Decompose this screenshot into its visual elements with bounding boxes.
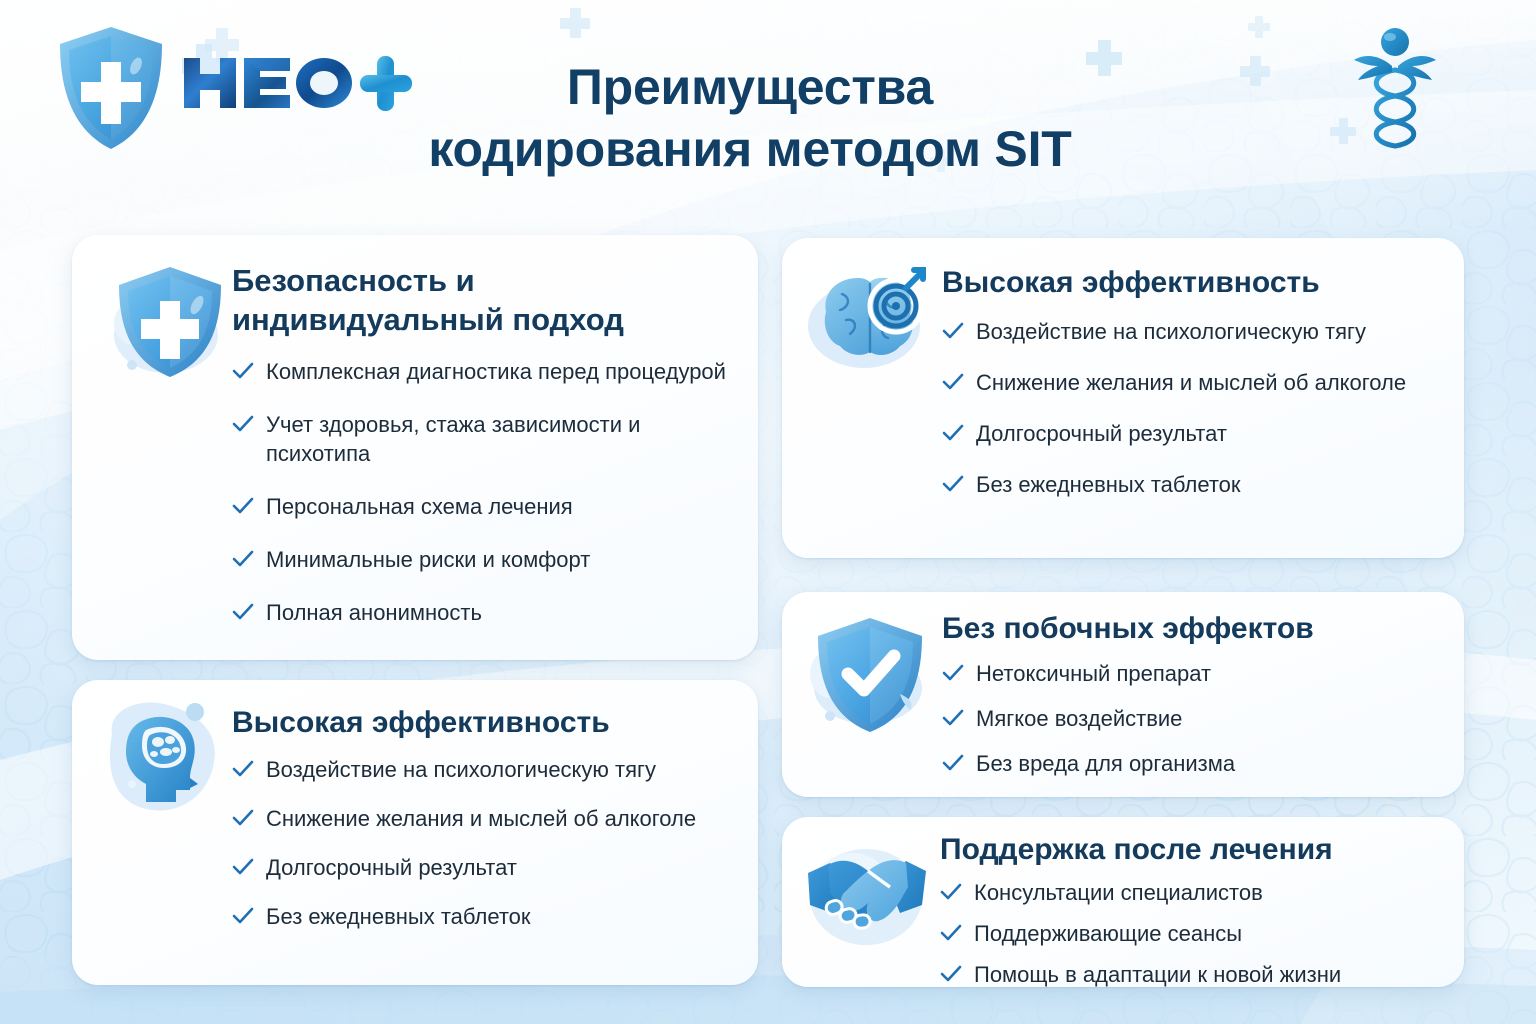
card-title: Высокая эффективность xyxy=(942,264,1442,301)
page-title: Преимущества кодирования методом SIT xyxy=(300,56,1200,180)
bullet-text: Учет здоровья, стажа зависимости и психо… xyxy=(266,412,640,466)
card-body: Безопасность и индивидуальный подход Ком… xyxy=(232,261,732,651)
check-icon xyxy=(232,808,254,828)
check-icon xyxy=(232,361,254,381)
head-brain-icon xyxy=(94,692,230,828)
bullet-text: Снижение желания и мыслей об алкоголе xyxy=(976,370,1406,395)
check-icon xyxy=(232,414,254,434)
card-body: Без побочных эффектов Нетоксичный препар… xyxy=(942,610,1442,794)
bullet-item: Минимальные риски и комфорт xyxy=(232,545,732,574)
bullet-item: Персональная схема лечения xyxy=(232,492,732,521)
bullet-item: Консультации специалистов xyxy=(940,878,1460,907)
card-high-efficiency-right: Высокая эффективность Воздействие на пси… xyxy=(782,238,1464,558)
bullet-item: Поддерживающие сеансы xyxy=(940,919,1460,948)
bullet-text: Воздействие на психологическую тягу xyxy=(266,757,656,782)
check-icon xyxy=(942,708,964,728)
bullet-text: Нетоксичный препарат xyxy=(976,661,1211,686)
check-icon xyxy=(942,372,964,392)
page-title-line2: кодирования методом SIT xyxy=(300,118,1200,180)
bullet-text: Без вреда для организма xyxy=(976,751,1235,776)
card-title: Высокая эффективность xyxy=(232,704,742,741)
bullet-item: Учет здоровья, стажа зависимости и психо… xyxy=(232,410,732,468)
card-body: Поддержка после лечения Консультации спе… xyxy=(940,831,1460,1001)
check-icon xyxy=(232,906,254,926)
bullet-text: Поддерживающие сеансы xyxy=(974,921,1242,946)
check-icon xyxy=(232,549,254,569)
bullet-text: Снижение желания и мыслей об алкоголе xyxy=(266,806,696,831)
infographic-canvas: Преимущества кодирования методом SIT xyxy=(0,0,1536,1024)
bullet-item: Комплексная диагностика перед процедурой xyxy=(232,357,732,386)
bullet-item: Мягкое воздействие xyxy=(942,704,1442,733)
bullet-text: Долгосрочный результат xyxy=(266,855,517,880)
bullet-text: Полная анонимность xyxy=(266,600,482,625)
bullet-text: Без ежедневных таблеток xyxy=(976,472,1241,497)
shield-check-icon xyxy=(804,608,936,740)
check-icon xyxy=(942,321,964,341)
bullet-list: Воздействие на психологическую тягуСниже… xyxy=(942,317,1442,499)
check-icon xyxy=(940,882,962,902)
check-icon xyxy=(942,663,964,683)
check-icon xyxy=(940,923,962,943)
bullet-list: Консультации специалистовПоддерживающие … xyxy=(940,878,1460,989)
card-title: Без побочных эффектов xyxy=(942,610,1442,647)
bullet-text: Минимальные риски и комфорт xyxy=(266,547,590,572)
bullet-text: Мягкое воздействие xyxy=(976,706,1182,731)
card-no-side-effects: Без побочных эффектов Нетоксичный препар… xyxy=(782,592,1464,797)
bullet-item: Снижение желания и мыслей об алкоголе xyxy=(232,804,742,833)
bullet-text: Консультации специалистов xyxy=(974,880,1263,905)
check-icon xyxy=(942,474,964,494)
bullet-item: Воздействие на психологическую тягу xyxy=(942,317,1442,346)
card-title: Безопасность и индивидуальный подход xyxy=(232,261,672,339)
check-icon xyxy=(232,496,254,516)
bullet-list: Комплексная диагностика перед процедурой… xyxy=(232,357,732,627)
bullet-item: Без ежедневных таблеток xyxy=(232,902,742,931)
card-high-efficiency-left: Высокая эффективность Воздействие на пси… xyxy=(72,680,758,985)
bullet-text: Без ежедневных таблеток xyxy=(266,904,531,929)
bullet-text: Долгосрочный результат xyxy=(976,421,1227,446)
card-body: Высокая эффективность Воздействие на пси… xyxy=(232,704,742,951)
bullet-item: Помощь в адаптации к новой жизни xyxy=(940,960,1460,989)
check-icon xyxy=(942,423,964,443)
bullet-text: Комплексная диагностика перед процедурой xyxy=(266,359,726,384)
check-icon xyxy=(942,753,964,773)
check-icon xyxy=(940,964,962,984)
bullet-text: Персональная схема лечения xyxy=(266,494,573,519)
bullet-item: Нетоксичный препарат xyxy=(942,659,1442,688)
card-title: Поддержка после лечения xyxy=(940,831,1460,868)
bullet-text: Воздействие на психологическую тягу xyxy=(976,319,1366,344)
brain-target-icon xyxy=(802,258,934,384)
header: Преимущества кодирования методом SIT xyxy=(0,0,1536,215)
check-icon xyxy=(232,759,254,779)
caduceus-icon xyxy=(1348,22,1442,172)
bullet-item: Без вреда для организма xyxy=(942,749,1442,778)
card-support-after-treatment: Поддержка после лечения Консультации спе… xyxy=(782,817,1464,987)
handshake-icon xyxy=(802,835,932,955)
bullet-item: Снижение желания и мыслей об алкоголе xyxy=(942,368,1442,397)
bullet-item: Воздействие на психологическую тягу xyxy=(232,755,742,784)
page-title-line1: Преимущества xyxy=(300,56,1200,118)
card-safety: Безопасность и индивидуальный подход Ком… xyxy=(72,235,758,660)
check-icon xyxy=(232,857,254,877)
check-icon xyxy=(232,602,254,622)
bullet-text: Помощь в адаптации к новой жизни xyxy=(974,962,1341,987)
bullet-item: Долгосрочный результат xyxy=(942,419,1442,448)
bullet-item: Полная анонимность xyxy=(232,598,732,627)
bullet-item: Без ежедневных таблеток xyxy=(942,470,1442,499)
card-body: Высокая эффективность Воздействие на пси… xyxy=(942,264,1442,521)
shield-cross-icon xyxy=(104,253,236,385)
bullet-list: Воздействие на психологическую тягуСниже… xyxy=(232,755,742,931)
bullet-item: Долгосрочный результат xyxy=(232,853,742,882)
bullet-list: Нетоксичный препаратМягкое воздействиеБе… xyxy=(942,659,1442,778)
shield-cross-icon xyxy=(52,24,170,152)
